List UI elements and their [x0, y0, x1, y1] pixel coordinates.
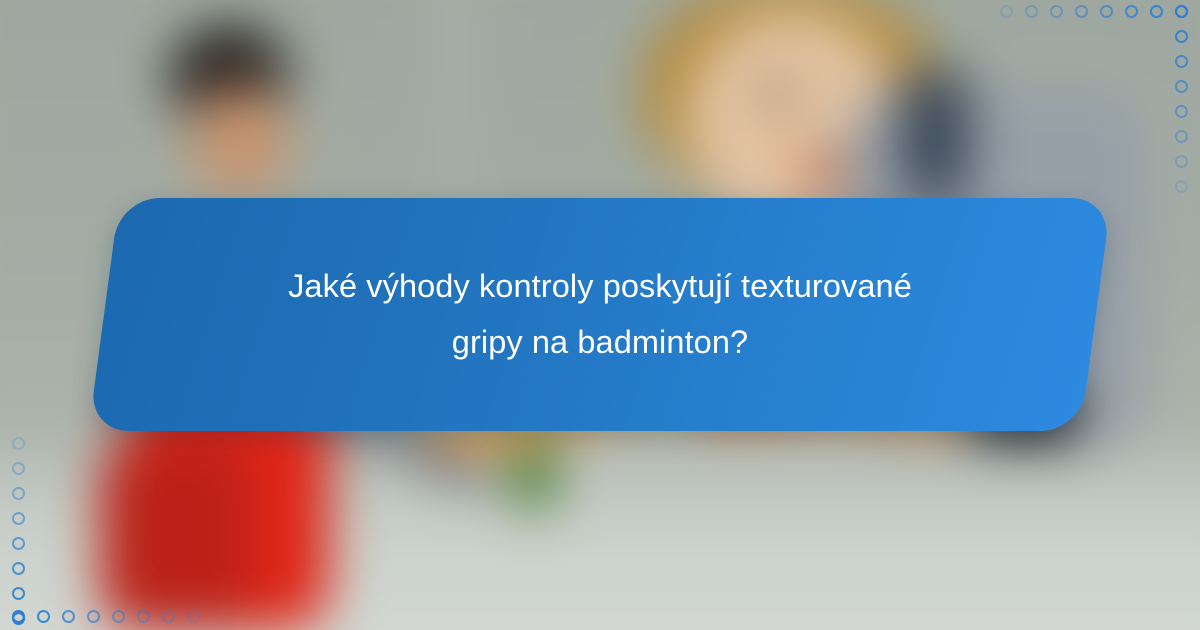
- decor-dot: [1175, 105, 1188, 118]
- decor-dot: [12, 487, 25, 500]
- decor-dot: [12, 512, 25, 525]
- decor-dot: [1075, 5, 1088, 18]
- decor-dot: [12, 562, 25, 575]
- decor-dot: [1000, 5, 1013, 18]
- decor-dot: [137, 610, 150, 623]
- decor-dot: [187, 610, 200, 623]
- decor-dot: [12, 437, 25, 450]
- decor-dot: [87, 610, 100, 623]
- background-child-right-eye: [760, 80, 796, 110]
- decor-dot: [12, 537, 25, 550]
- decor-dot: [1175, 180, 1188, 193]
- decor-dot: [1050, 5, 1063, 18]
- decor-dot: [1175, 130, 1188, 143]
- question-card-text: Jaké výhody kontroly poskytují texturova…: [104, 198, 1096, 431]
- decor-dot: [1175, 30, 1188, 43]
- background-child-right-collar: [900, 70, 970, 200]
- decor-dot: [1175, 80, 1188, 93]
- background-child-left-face: [188, 85, 292, 197]
- decor-dot: [162, 610, 175, 623]
- background-child-left-shirt-shadow: [100, 440, 250, 630]
- decor-dot: [1175, 155, 1188, 168]
- decor-dot: [1025, 5, 1038, 18]
- decor-dot: [37, 610, 50, 623]
- question-line-2: gripy na badminton?: [452, 315, 748, 371]
- background-racket-green: [510, 440, 556, 510]
- decor-dot: [12, 587, 25, 600]
- decor-dot: [1150, 5, 1163, 18]
- decor-dot: [1175, 5, 1188, 18]
- decor-dot: [1125, 5, 1138, 18]
- screenshot-canvas: Jaké výhody kontroly poskytují texturova…: [0, 0, 1200, 630]
- decor-dot: [1100, 5, 1113, 18]
- question-card: Jaké výhody kontroly poskytují texturova…: [104, 198, 1096, 431]
- decor-dot: [12, 612, 25, 625]
- decor-dot: [1175, 55, 1188, 68]
- decor-dot: [62, 610, 75, 623]
- decor-dot: [12, 462, 25, 475]
- question-line-1: Jaké výhody kontroly poskytují texturova…: [288, 259, 912, 315]
- decor-dot: [112, 610, 125, 623]
